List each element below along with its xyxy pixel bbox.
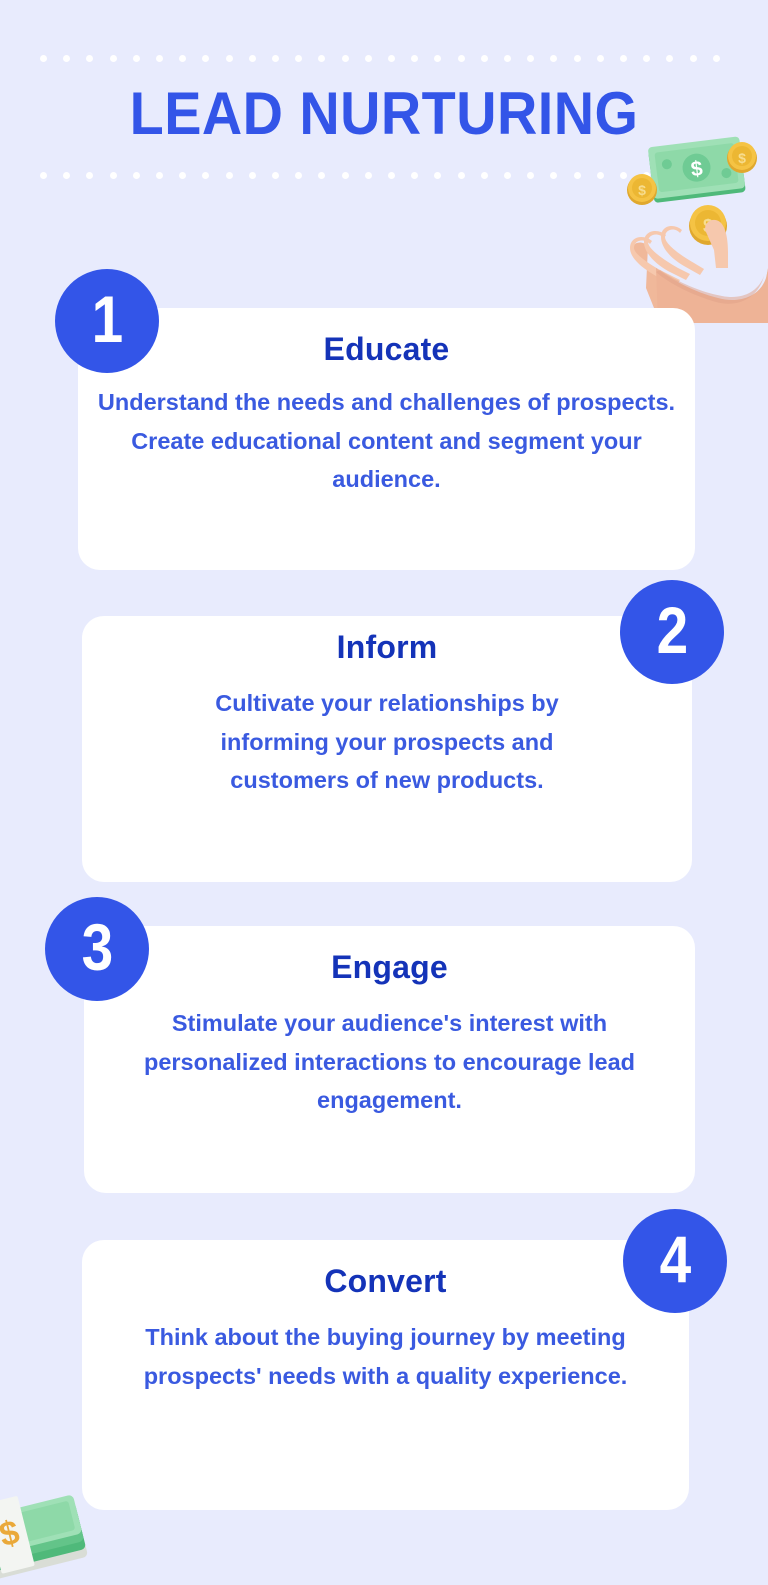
step-body: Cultivate your relationships by informin…: [82, 684, 692, 800]
step-title: Convert: [82, 1262, 689, 1300]
divider-dot: [620, 172, 627, 179]
divider-dot: [550, 55, 557, 62]
divider-dot: [597, 55, 604, 62]
divider-dot: [690, 172, 697, 179]
divider-dot: [249, 55, 256, 62]
page-title: LEAD NURTURING: [27, 78, 741, 150]
step-number-badge-4: 4: [623, 1209, 727, 1313]
header: LEAD NURTURING: [0, 0, 768, 250]
divider-dot: [550, 172, 557, 179]
divider-dot: [318, 55, 325, 62]
divider-dot: [458, 55, 465, 62]
divider-dot: [295, 172, 302, 179]
divider-dot: [527, 172, 534, 179]
divider-dot: [179, 172, 186, 179]
divider-dot: [690, 55, 697, 62]
step-card-3[interactable]: Engage Stimulate your audience's interes…: [84, 926, 695, 1193]
divider-dot: [110, 55, 117, 62]
divider-dot: [86, 172, 93, 179]
infographic-root: LEAD NURTURING $ $ $: [0, 0, 768, 1585]
divider-dot: [342, 172, 349, 179]
divider-dot: [40, 172, 47, 179]
divider-dot: [272, 55, 279, 62]
divider-dot: [133, 172, 140, 179]
step-number-badge-3: 3: [45, 897, 149, 1001]
divider-dot: [272, 172, 279, 179]
divider-dot: [202, 55, 209, 62]
divider-dot: [666, 172, 673, 179]
dotted-divider-bottom: [40, 172, 750, 180]
divider-dot: [481, 172, 488, 179]
svg-text:$: $: [0, 1513, 23, 1554]
divider-dot: [226, 172, 233, 179]
divider-dot: [388, 55, 395, 62]
divider-dot: [434, 172, 441, 179]
divider-dot: [110, 172, 117, 179]
divider-dot: [643, 172, 650, 179]
step-number-badge-1: 1: [55, 269, 159, 373]
divider-dot: [63, 172, 70, 179]
divider-dot: [133, 55, 140, 62]
divider-dot: [574, 55, 581, 62]
divider-dot: [388, 172, 395, 179]
divider-dot: [574, 172, 581, 179]
step-body: Think about the buying journey by meetin…: [82, 1318, 689, 1395]
divider-dot: [156, 55, 163, 62]
divider-dot: [527, 55, 534, 62]
divider-dot: [411, 172, 418, 179]
divider-dot: [179, 55, 186, 62]
step-title: Engage: [84, 948, 695, 986]
divider-dot: [597, 172, 604, 179]
divider-dot: [713, 172, 720, 179]
step-body: Stimulate your audience's interest with …: [84, 1004, 695, 1120]
step-number: 3: [81, 914, 113, 980]
divider-dot: [365, 172, 372, 179]
step-card-1[interactable]: Educate Understand the needs and challen…: [78, 308, 695, 570]
divider-dot: [481, 55, 488, 62]
divider-dot: [342, 55, 349, 62]
dotted-divider-top: [40, 55, 730, 63]
divider-dot: [156, 172, 163, 179]
divider-dot: [643, 55, 650, 62]
divider-dot: [249, 172, 256, 179]
step-number: 2: [656, 597, 688, 663]
divider-dot: [434, 55, 441, 62]
step-body: Understand the needs and challenges of p…: [78, 383, 695, 499]
divider-dot: [63, 55, 70, 62]
divider-dot: [40, 55, 47, 62]
step-number: 4: [659, 1226, 691, 1292]
divider-dot: [736, 172, 743, 179]
divider-dot: [504, 172, 511, 179]
step-card-4[interactable]: Convert Think about the buying journey b…: [82, 1240, 689, 1510]
divider-dot: [365, 55, 372, 62]
step-title: Educate: [78, 330, 695, 368]
divider-dot: [504, 55, 511, 62]
divider-dot: [86, 55, 93, 62]
divider-dot: [295, 55, 302, 62]
divider-dot: [318, 172, 325, 179]
divider-dot: [666, 55, 673, 62]
divider-dot: [411, 55, 418, 62]
step-number: 1: [91, 286, 123, 352]
divider-dot: [202, 172, 209, 179]
step-number-badge-2: 2: [620, 580, 724, 684]
divider-dot: [713, 55, 720, 62]
step-title: Inform: [82, 628, 692, 666]
divider-dot: [458, 172, 465, 179]
step-card-2[interactable]: Inform Cultivate your relationships by i…: [82, 616, 692, 882]
divider-dot: [620, 55, 627, 62]
divider-dot: [226, 55, 233, 62]
